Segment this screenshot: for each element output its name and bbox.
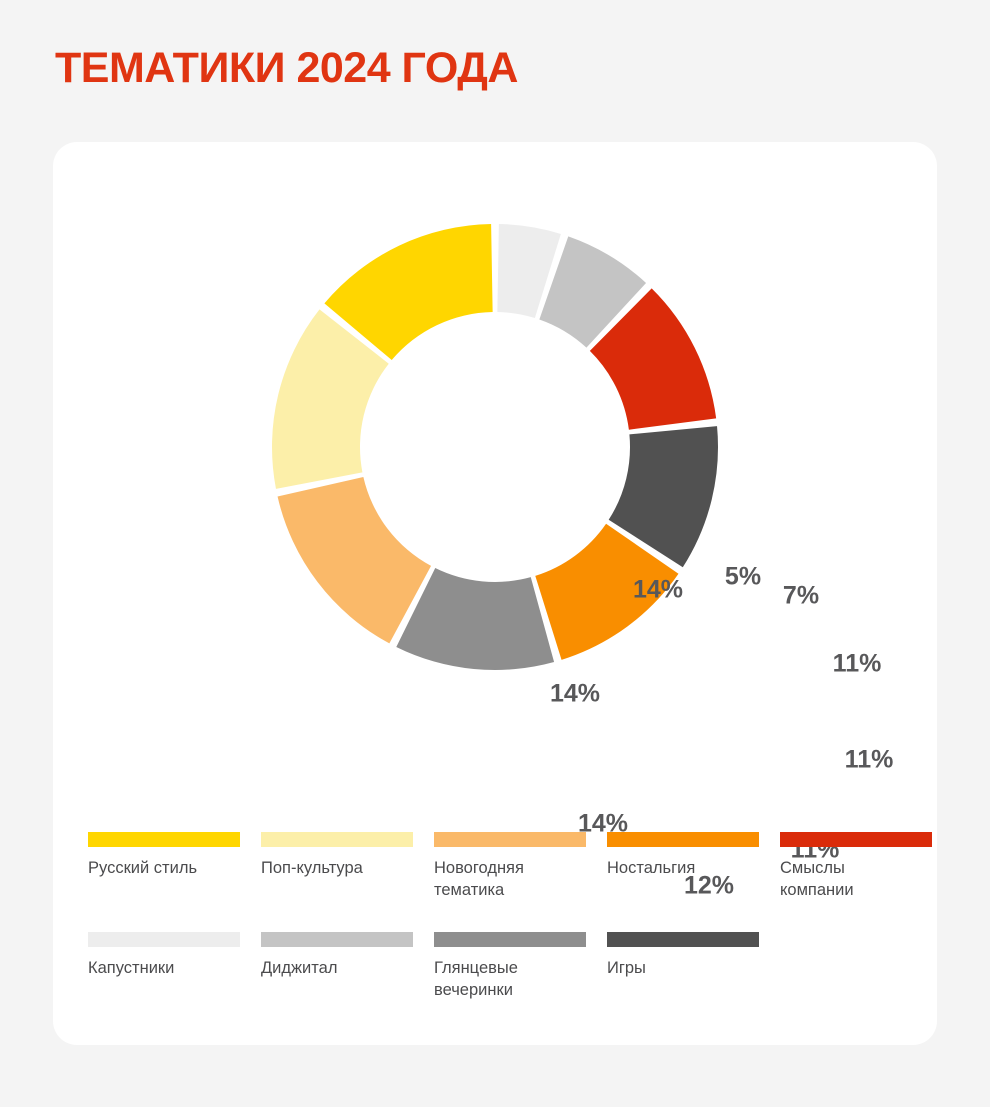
legend-item[interactable]: Игры [607,932,772,1002]
legend-row: КапустникиДиджиталГлянцевыевечеринкиИгры [88,932,918,1002]
pct-label-digital: 7% [783,582,819,611]
legend-item[interactable]: Новогодняятематика [434,832,599,902]
legend-item-label: Глянцевыевечеринки [434,957,584,1002]
legend-item-label: Поп-культура [261,857,411,879]
legend-item[interactable]: Русский стиль [88,832,253,902]
legend-row: Русский стильПоп-культураНовогодняятемат… [88,832,918,902]
legend-color-swatch [88,832,240,847]
legend-item-label: Игры [607,957,757,979]
legend-item-label: Ностальгия [607,857,757,879]
legend-color-swatch [434,832,586,847]
chart-legend: Русский стильПоп-культураНовогодняятемат… [88,832,918,1031]
pct-label-pop-kultura: 14% [550,680,600,709]
legend-item[interactable]: Смыслыкомпании [780,832,945,902]
chart-card: 5% 7% 11% 11% 11% 12% 14% 14% 14% Русски… [53,142,937,1045]
legend-item-label: Капустники [88,957,238,979]
legend-item-label: Русский стиль [88,857,238,879]
legend-item-label: Новогодняятематика [434,857,584,902]
legend-color-swatch [261,932,413,947]
pct-label-russkiy-stil: 14% [633,576,683,605]
legend-color-swatch [261,832,413,847]
legend-item[interactable]: Диджитал [261,932,426,1002]
donut-chart: 5% 7% 11% 11% 11% 12% 14% 14% 14% [53,142,937,762]
legend-color-swatch [780,832,932,847]
donut-chart-svg [230,182,760,712]
legend-item-label: Смыслыкомпании [780,857,930,902]
pct-label-kapustniki: 5% [725,563,761,592]
legend-item-label: Диджитал [261,957,411,979]
donut-slice[interactable] [278,477,431,643]
legend-color-swatch [88,932,240,947]
legend-item[interactable]: Капустники [88,932,253,1002]
legend-item[interactable]: Поп-культура [261,832,426,902]
legend-color-swatch [607,832,759,847]
legend-item[interactable]: Глянцевыевечеринки [434,932,599,1002]
pct-label-smysly: 11% [833,650,882,679]
page-title: ТЕМАТИКИ 2024 ГОДА [55,44,518,93]
legend-item[interactable]: Ностальгия [607,832,772,902]
legend-color-swatch [434,932,586,947]
pct-label-igry: 11% [845,746,894,775]
legend-color-swatch [607,932,759,947]
